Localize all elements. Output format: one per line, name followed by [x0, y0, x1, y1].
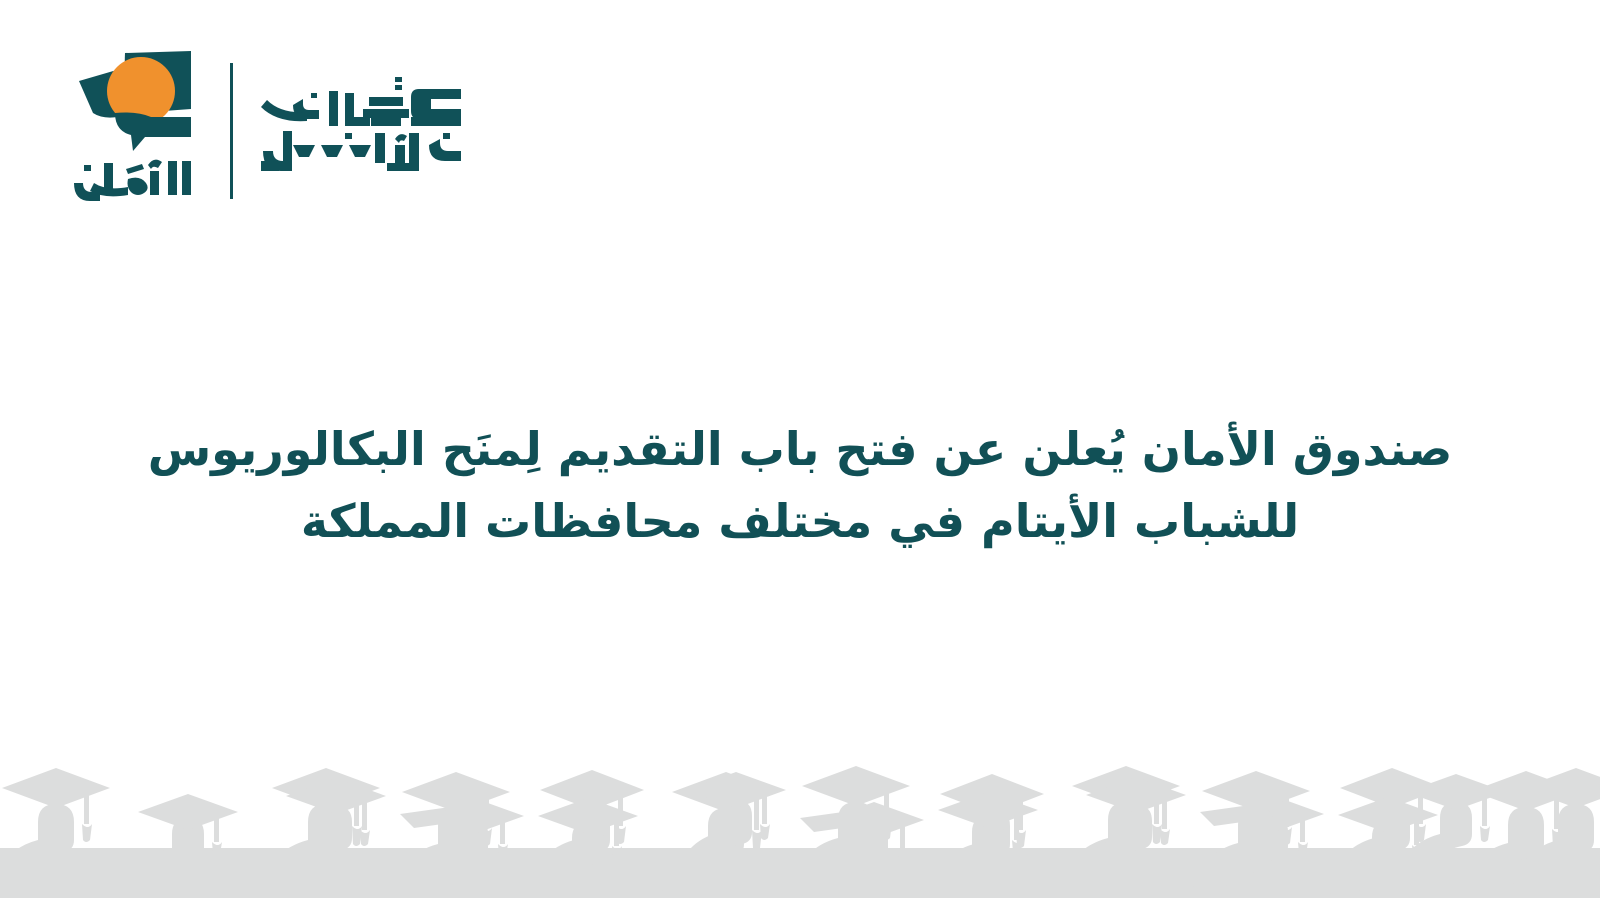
logo-divider [230, 63, 233, 199]
brand-tagline [259, 56, 469, 206]
al-aman-sun-logo-icon [75, 51, 195, 155]
slide-canvas: صندوق الأمان يُعلن عن فتح باب التقديم لِ… [0, 0, 1600, 898]
graduation-caps-silhouette-icon [0, 730, 1600, 898]
brand-logo-lockup [38, 48, 469, 213]
brand-tagline-artwork [259, 71, 464, 191]
headline-line-1: صندوق الأمان يُعلن عن فتح باب التقديم لِ… [0, 413, 1600, 485]
graduation-caps-band [0, 730, 1600, 898]
al-aman-wordmark [72, 157, 198, 209]
page-title: صندوق الأمان يُعلن عن فتح باب التقديم لِ… [0, 413, 1600, 557]
headline-line-2: للشباب الأيتام في مختلف محافظات المملكة [0, 485, 1600, 557]
brand-primary [66, 51, 204, 211]
